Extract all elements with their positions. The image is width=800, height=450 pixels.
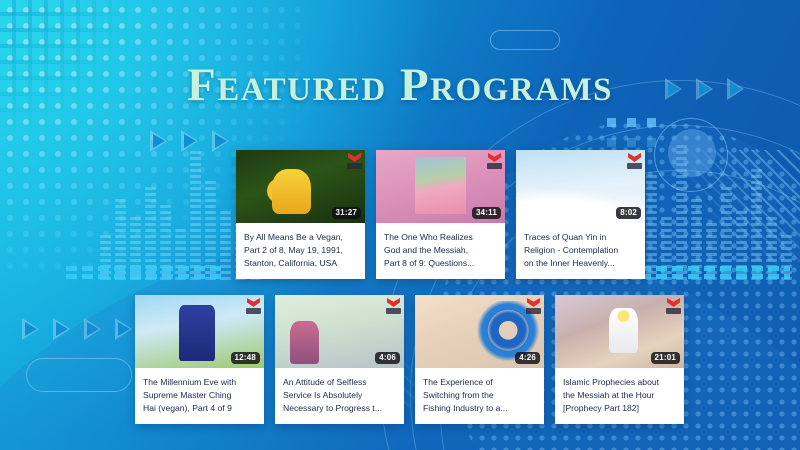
equalizer-segment bbox=[736, 211, 747, 214]
equalizer-segment bbox=[190, 235, 201, 238]
equalizer-segment bbox=[160, 205, 171, 208]
video-thumbnail[interactable]: 31:27 bbox=[236, 150, 365, 223]
equalizer-segment bbox=[691, 259, 702, 262]
square-dot bbox=[627, 138, 636, 147]
square-dot bbox=[607, 138, 616, 147]
equalizer-segment bbox=[205, 241, 216, 244]
video-title: An Attitude of SelflessService Is Absolu… bbox=[275, 368, 404, 424]
equalizer-segment bbox=[676, 163, 687, 166]
equalizer-segment bbox=[115, 253, 126, 256]
equalizer-segment bbox=[175, 235, 186, 238]
equalizer-segment bbox=[190, 229, 201, 232]
equalizer-column bbox=[706, 223, 717, 280]
equalizer-segment bbox=[676, 229, 687, 232]
channel-logo-label bbox=[246, 308, 261, 314]
equalizer-segment bbox=[751, 169, 762, 172]
equalizer-segment bbox=[220, 271, 231, 274]
equalizer-segment bbox=[145, 229, 156, 232]
equalizer-segment bbox=[100, 235, 111, 238]
square-dot bbox=[647, 138, 656, 147]
video-title-line: The One Who Realizes bbox=[384, 231, 497, 244]
equalizer-segment bbox=[220, 217, 231, 220]
equalizer-segment bbox=[175, 247, 186, 250]
equalizer-segment bbox=[115, 199, 126, 202]
equalizer-segment bbox=[676, 175, 687, 178]
video-title-line: Fishing Industry to a... bbox=[423, 402, 536, 415]
equalizer-segment bbox=[130, 277, 141, 280]
equalizer-segment bbox=[205, 229, 216, 232]
equalizer-segment bbox=[646, 187, 657, 190]
equalizer-segment bbox=[766, 265, 777, 268]
video-card[interactable]: 12:48The Millennium Eve withSupreme Mast… bbox=[135, 295, 264, 424]
equalizer-segment bbox=[676, 223, 687, 226]
equalizer-segment bbox=[781, 241, 792, 244]
equalizer-segment bbox=[205, 253, 216, 256]
equalizer-segment bbox=[175, 265, 186, 268]
video-title-line: [Prophecy Part 182] bbox=[563, 402, 676, 415]
equalizer-segment bbox=[646, 265, 657, 268]
equalizer-segment bbox=[220, 277, 231, 280]
equalizer-segment bbox=[145, 241, 156, 244]
equalizer-segment bbox=[115, 223, 126, 226]
video-title-line: By All Means Be a Vegan, bbox=[244, 231, 357, 244]
dashed-line-right-lower bbox=[640, 274, 790, 279]
equalizer-segment bbox=[706, 247, 717, 250]
equalizer-segment bbox=[751, 205, 762, 208]
equalizer-segment bbox=[160, 247, 171, 250]
equalizer-segment bbox=[766, 253, 777, 256]
equalizer-segment bbox=[736, 253, 747, 256]
equalizer-column bbox=[661, 217, 672, 280]
equalizer-segment bbox=[646, 271, 657, 274]
equalizer-segment bbox=[100, 277, 111, 280]
equalizer-column bbox=[721, 187, 732, 280]
pill-outline-top bbox=[490, 30, 560, 50]
equalizer-segment bbox=[190, 247, 201, 250]
equalizer-segment bbox=[145, 205, 156, 208]
equalizer-segment bbox=[130, 223, 141, 226]
video-thumbnail[interactable]: 12:48 bbox=[135, 295, 264, 368]
duration-badge: 4:06 bbox=[375, 352, 400, 364]
equalizer-segment bbox=[781, 253, 792, 256]
equalizer-segment bbox=[751, 223, 762, 226]
equalizer-segment bbox=[160, 265, 171, 268]
equalizer-segment bbox=[721, 193, 732, 196]
equalizer-segment bbox=[661, 241, 672, 244]
equalizer-segment bbox=[205, 277, 216, 280]
equalizer-segment bbox=[130, 229, 141, 232]
equalizer-segment bbox=[130, 247, 141, 250]
video-title: Traces of Quan Yin inReligion - Contempl… bbox=[516, 223, 645, 279]
equalizer-segment bbox=[706, 271, 717, 274]
equalizer-column bbox=[691, 199, 702, 280]
equalizer-segment bbox=[676, 199, 687, 202]
equalizer-segment bbox=[751, 265, 762, 268]
video-card[interactable]: 31:27By All Means Be a Vegan,Part 2 of 8… bbox=[236, 150, 365, 279]
video-title: The Millennium Eve withSupreme Master Ch… bbox=[135, 368, 264, 424]
equalizer-segment bbox=[721, 205, 732, 208]
equalizer-segment bbox=[145, 187, 156, 190]
equalizer-segment bbox=[691, 205, 702, 208]
equalizer-segment bbox=[205, 199, 216, 202]
equalizer-segment bbox=[751, 277, 762, 280]
equalizer-segment bbox=[646, 229, 657, 232]
equalizer-column bbox=[115, 199, 126, 280]
equalizer-segment bbox=[205, 181, 216, 184]
equalizer-segment bbox=[160, 271, 171, 274]
equalizer-segment bbox=[676, 247, 687, 250]
video-thumbnail[interactable]: 4:26 bbox=[415, 295, 544, 368]
equalizer-segment bbox=[160, 211, 171, 214]
equalizer-column bbox=[781, 235, 792, 280]
duration-badge: 4:26 bbox=[515, 352, 540, 364]
equalizer-segment bbox=[661, 253, 672, 256]
equalizer-segment bbox=[190, 241, 201, 244]
video-title-line: Necessary to Progress t... bbox=[283, 402, 396, 415]
equalizer-segment bbox=[190, 217, 201, 220]
equalizer-segment bbox=[676, 187, 687, 190]
equalizer-segment bbox=[691, 235, 702, 238]
equalizer-segment bbox=[691, 223, 702, 226]
duration-badge: 21:01 bbox=[651, 352, 680, 364]
equalizer-segment bbox=[751, 199, 762, 202]
equalizer-segment bbox=[661, 223, 672, 226]
equalizer-segment bbox=[205, 187, 216, 190]
equalizer-segment bbox=[100, 253, 111, 256]
equalizer-column bbox=[160, 205, 171, 280]
equalizer-segment bbox=[736, 259, 747, 262]
equalizer-segment bbox=[646, 247, 657, 250]
featured-row-1: 31:27By All Means Be a Vegan,Part 2 of 8… bbox=[236, 150, 645, 279]
equalizer-segment bbox=[205, 271, 216, 274]
equalizer-segment bbox=[646, 181, 657, 184]
equalizer-segment bbox=[781, 265, 792, 268]
video-card[interactable]: 34:11The One Who RealizesGod and the Mes… bbox=[376, 150, 505, 279]
equalizer-segment bbox=[646, 259, 657, 262]
equalizer-segment bbox=[100, 241, 111, 244]
equalizer-segment bbox=[661, 247, 672, 250]
equalizer-segment bbox=[661, 265, 672, 268]
video-title-line: Part 2 of 8, May 19, 1991, bbox=[244, 244, 357, 257]
equalizer-segment bbox=[205, 259, 216, 262]
channel-logo-label bbox=[627, 163, 642, 169]
equalizer-segment bbox=[676, 277, 687, 280]
equalizer-segment bbox=[766, 235, 777, 238]
equalizer-segment bbox=[130, 265, 141, 268]
video-title-line: An Attitude of Selfless bbox=[283, 376, 396, 389]
equalizer-segment bbox=[751, 271, 762, 274]
video-title-line: Hai (vegan), Part 4 of 9 bbox=[143, 402, 256, 415]
equalizer-segment bbox=[721, 211, 732, 214]
equalizer-segment bbox=[691, 253, 702, 256]
equalizer-segment bbox=[646, 217, 657, 220]
channel-logo-label bbox=[487, 163, 502, 169]
equalizer-segment bbox=[691, 247, 702, 250]
video-title: The One Who RealizesGod and the Messiah,… bbox=[376, 223, 505, 279]
equalizer-segment bbox=[145, 199, 156, 202]
equalizer-segment bbox=[190, 199, 201, 202]
dashed-line-right-upper bbox=[640, 266, 790, 271]
square-dot bbox=[647, 118, 656, 127]
duration-badge: 12:48 bbox=[231, 352, 260, 364]
equalizer-segment bbox=[145, 217, 156, 220]
equalizer-segment bbox=[220, 229, 231, 232]
equalizer-segment bbox=[691, 211, 702, 214]
equalizer-segment bbox=[145, 193, 156, 196]
equalizer-column bbox=[175, 229, 186, 280]
equalizer-column bbox=[736, 211, 747, 280]
video-card[interactable]: 4:06An Attitude of SelflessService Is Ab… bbox=[275, 295, 404, 424]
video-title-line: Switching from the bbox=[423, 389, 536, 402]
equalizer-segment bbox=[190, 157, 201, 160]
dashed-line-left-upper bbox=[66, 266, 226, 271]
equalizer-segment bbox=[766, 247, 777, 250]
equalizer-segment bbox=[751, 247, 762, 250]
channel-logo-label bbox=[526, 308, 541, 314]
equalizer-segment bbox=[190, 175, 201, 178]
video-title-line: God and the Messiah, bbox=[384, 244, 497, 257]
equalizer-segment bbox=[175, 271, 186, 274]
page-title: Featured Programs bbox=[0, 58, 800, 112]
equalizer-segment bbox=[676, 235, 687, 238]
equalizer-segment bbox=[115, 259, 126, 262]
equalizer-segment bbox=[100, 271, 111, 274]
square-cluster bbox=[607, 118, 656, 147]
equalizer-segment bbox=[205, 205, 216, 208]
equalizer-segment bbox=[661, 217, 672, 220]
equalizer-segment bbox=[115, 241, 126, 244]
equalizer-segment bbox=[676, 265, 687, 268]
video-thumbnail[interactable]: 21:01 bbox=[555, 295, 684, 368]
pill-outline-bottom-left bbox=[26, 358, 132, 392]
play-triangle-icon bbox=[150, 130, 167, 152]
equalizer-segment bbox=[220, 259, 231, 262]
equalizer-segment bbox=[205, 223, 216, 226]
equalizer-segment bbox=[751, 253, 762, 256]
equalizer-segment bbox=[130, 271, 141, 274]
video-card[interactable]: 21:01Islamic Prophecies aboutthe Messiah… bbox=[555, 295, 684, 424]
equalizer-segment bbox=[721, 259, 732, 262]
equalizer-segment bbox=[115, 211, 126, 214]
equalizer-segment bbox=[691, 277, 702, 280]
equalizer-segment bbox=[130, 217, 141, 220]
equalizer-segment bbox=[646, 211, 657, 214]
featured-programs-slide: Featured Programs 31:27By All Means Be a… bbox=[0, 0, 800, 450]
equalizer-segment bbox=[646, 253, 657, 256]
equalizer-segment bbox=[100, 259, 111, 262]
equalizer-segment bbox=[751, 241, 762, 244]
equalizer-segment bbox=[190, 211, 201, 214]
equalizer-segment bbox=[145, 223, 156, 226]
equalizer-segment bbox=[721, 277, 732, 280]
equalizer-segment bbox=[220, 253, 231, 256]
equalizer-column bbox=[676, 145, 687, 280]
duration-badge: 31:27 bbox=[332, 207, 361, 219]
equalizer-segment bbox=[661, 259, 672, 262]
equalizer-segment bbox=[160, 223, 171, 226]
equalizer-column bbox=[145, 187, 156, 280]
equalizer-segment bbox=[676, 157, 687, 160]
equalizer-segment bbox=[205, 247, 216, 250]
equalizer-segment bbox=[691, 199, 702, 202]
equalizer-segment bbox=[676, 151, 687, 154]
equalizer-segment bbox=[676, 205, 687, 208]
channel-logo-label bbox=[386, 308, 401, 314]
play-triangle-icon bbox=[212, 130, 229, 152]
video-title-line: Service Is Absolutely bbox=[283, 389, 396, 402]
equalizer-segment bbox=[145, 265, 156, 268]
equalizer-segment bbox=[160, 229, 171, 232]
equalizer-segment bbox=[706, 265, 717, 268]
equalizer-segment bbox=[646, 223, 657, 226]
equalizer-segment bbox=[646, 235, 657, 238]
featured-row-2: 12:48The Millennium Eve withSupreme Mast… bbox=[135, 295, 684, 424]
video-thumbnail[interactable]: 8:02 bbox=[516, 150, 645, 223]
video-title: The Experience ofSwitching from theFishi… bbox=[415, 368, 544, 424]
video-title-line: Part 8 of 9: Questions... bbox=[384, 257, 497, 270]
equalizer-segment bbox=[100, 247, 111, 250]
equalizer-segment bbox=[190, 169, 201, 172]
video-title-line: Traces of Quan Yin in bbox=[524, 231, 637, 244]
equalizer-segment bbox=[721, 229, 732, 232]
equalizer-segment bbox=[220, 247, 231, 250]
equalizer-segment bbox=[691, 241, 702, 244]
equalizer-segment bbox=[721, 271, 732, 274]
equalizer-segment bbox=[145, 211, 156, 214]
equalizer-column bbox=[766, 217, 777, 280]
equalizer-segment bbox=[220, 265, 231, 268]
equalizer-segment bbox=[766, 223, 777, 226]
equalizer-segment bbox=[190, 271, 201, 274]
equalizer-segment bbox=[751, 193, 762, 196]
equalizer-segment bbox=[145, 271, 156, 274]
equalizer-segment bbox=[190, 253, 201, 256]
play-triangle-icon bbox=[22, 318, 39, 340]
equalizer-segment bbox=[766, 271, 777, 274]
equalizer-segment bbox=[160, 277, 171, 280]
circle-ring-icon bbox=[654, 118, 728, 192]
equalizer-segment bbox=[160, 217, 171, 220]
equalizer-segment bbox=[661, 271, 672, 274]
equalizer-segment bbox=[691, 265, 702, 268]
equalizer-segment bbox=[145, 247, 156, 250]
equalizer-segment bbox=[190, 193, 201, 196]
equalizer-segment bbox=[115, 229, 126, 232]
equalizer-column bbox=[190, 151, 201, 280]
video-thumbnail[interactable]: 34:11 bbox=[376, 150, 505, 223]
video-title-line: the Messiah at the Hour bbox=[563, 389, 676, 402]
equalizer-segment bbox=[190, 163, 201, 166]
equalizer-segment bbox=[721, 199, 732, 202]
equalizer-segment bbox=[175, 229, 186, 232]
equalizer-segment bbox=[646, 277, 657, 280]
equalizer-segment bbox=[676, 145, 687, 148]
equalizer-segment bbox=[751, 181, 762, 184]
equalizer-segment bbox=[691, 229, 702, 232]
video-title-line: Islamic Prophecies about bbox=[563, 376, 676, 389]
equalizer-segment bbox=[190, 223, 201, 226]
equalizer-segment bbox=[100, 265, 111, 268]
play-triangle-icon bbox=[181, 130, 198, 152]
equalizer-segment bbox=[721, 241, 732, 244]
equalizer-segment bbox=[205, 193, 216, 196]
equalizer-segment bbox=[205, 217, 216, 220]
equalizer-segment bbox=[160, 253, 171, 256]
equalizer-segment bbox=[706, 277, 717, 280]
equalizer-segment bbox=[646, 205, 657, 208]
equalizer-segment bbox=[706, 259, 717, 262]
equalizer-segment bbox=[781, 271, 792, 274]
equalizer-segment bbox=[190, 187, 201, 190]
equalizer-segment bbox=[130, 235, 141, 238]
equalizer-segment bbox=[190, 277, 201, 280]
equalizer-segment bbox=[160, 235, 171, 238]
equalizer-segment bbox=[766, 259, 777, 262]
equalizer-segment bbox=[175, 259, 186, 262]
equalizer-segment bbox=[766, 229, 777, 232]
equalizer-segment bbox=[676, 211, 687, 214]
equalizer-segment bbox=[220, 235, 231, 238]
equalizer-segment bbox=[721, 265, 732, 268]
equalizer-segment bbox=[160, 259, 171, 262]
equalizer-segment bbox=[646, 241, 657, 244]
equalizer-segment bbox=[676, 217, 687, 220]
equalizer-segment bbox=[676, 259, 687, 262]
equalizer-segment bbox=[661, 277, 672, 280]
equalizer-segment bbox=[676, 169, 687, 172]
equalizer-segment bbox=[721, 247, 732, 250]
equalizer-segment bbox=[736, 235, 747, 238]
equalizer-column bbox=[205, 181, 216, 280]
video-title: By All Means Be a Vegan,Part 2 of 8, May… bbox=[236, 223, 365, 279]
equalizer-segment bbox=[145, 253, 156, 256]
equalizer-segment bbox=[766, 277, 777, 280]
play-triangle-icon bbox=[84, 318, 101, 340]
equalizer-segment bbox=[175, 277, 186, 280]
equalizer-segment bbox=[205, 265, 216, 268]
equalizer-segment bbox=[751, 229, 762, 232]
equalizer-segment bbox=[145, 235, 156, 238]
equalizer-segment bbox=[115, 265, 126, 268]
equalizer-segment bbox=[676, 181, 687, 184]
equalizer-segment bbox=[646, 175, 657, 178]
equalizer-segment bbox=[190, 181, 201, 184]
channel-logo-label bbox=[347, 163, 362, 169]
equalizer-column bbox=[751, 169, 762, 280]
play-triangle-icon bbox=[115, 318, 132, 340]
video-title-line: The Experience of bbox=[423, 376, 536, 389]
equalizer-segment bbox=[721, 235, 732, 238]
video-title-line: Supreme Master Ching bbox=[143, 389, 256, 402]
equalizer-segment bbox=[721, 253, 732, 256]
equalizer-segment bbox=[661, 235, 672, 238]
video-title: Islamic Prophecies aboutthe Messiah at t… bbox=[555, 368, 684, 424]
equalizer-segment bbox=[676, 241, 687, 244]
equalizer-segment bbox=[766, 241, 777, 244]
equalizer-column bbox=[220, 211, 231, 280]
video-title-line: Religion - Contemplation bbox=[524, 244, 637, 257]
equalizer-segment bbox=[691, 217, 702, 220]
video-card[interactable]: 4:26The Experience ofSwitching from theF… bbox=[415, 295, 544, 424]
play-triangle-icon bbox=[53, 318, 70, 340]
equalizer-segment bbox=[175, 241, 186, 244]
equalizer-segment bbox=[190, 265, 201, 268]
equalizer-segment bbox=[781, 259, 792, 262]
video-card[interactable]: 8:02Traces of Quan Yin inReligion - Cont… bbox=[516, 150, 645, 279]
equalizer-segment bbox=[646, 199, 657, 202]
equalizer-segment bbox=[691, 271, 702, 274]
video-thumbnail[interactable]: 4:06 bbox=[275, 295, 404, 368]
